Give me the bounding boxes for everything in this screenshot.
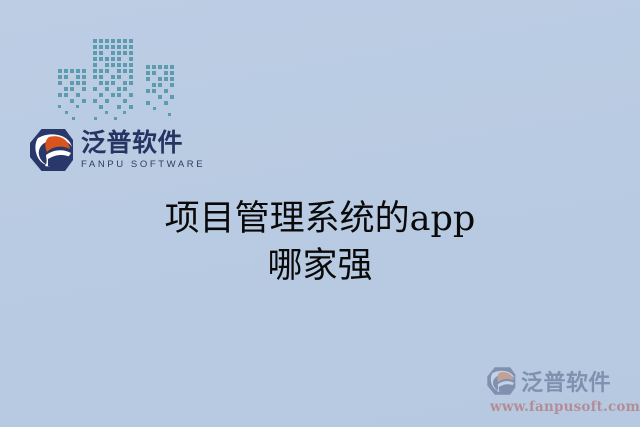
watermark-name-cn: 泛普软件 [521,365,611,397]
brand-name-cn: 泛普软件 [81,130,205,155]
watermark-logo-row: 泛普软件 [486,365,611,397]
pixel-cityscape-graphic [56,28,182,128]
brand-logo: 泛普软件 FANPU SOFTWARE [28,127,205,173]
fanpu-hexagon-logo-mark [486,366,516,396]
fanpu-hexagon-logo-mark [28,127,74,173]
brand-name-en: FANPU SOFTWARE [81,160,205,170]
page-title-line-2: 哪家强 [0,243,640,290]
slide-canvas: 泛普软件 FANPU SOFTWARE 项目管理系统的app 哪家强 泛普软件 … [0,0,640,427]
brand-wordmark: 泛普软件 FANPU SOFTWARE [81,130,205,170]
page-title: 项目管理系统的app 哪家强 [0,196,640,289]
watermark-url: www.fanpusoft.com [490,399,640,415]
page-title-line-1: 项目管理系统的app [0,196,640,243]
watermark: 泛普软件 www.fanpusoft.com [486,365,632,415]
